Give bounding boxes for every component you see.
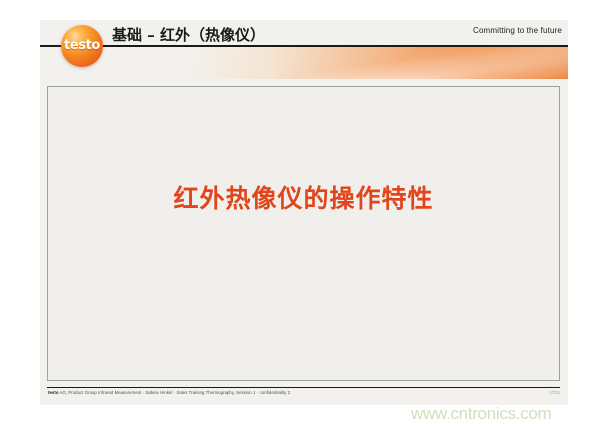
- brand-tagline: Committing to the future: [473, 26, 562, 35]
- slide-title: 基础 – 红外（热像仪）: [112, 24, 265, 45]
- footer-credit-line: testo AG, Product Group Infrared Measure…: [48, 390, 290, 395]
- slide-page-number: 17/21: [550, 390, 560, 395]
- footer-brand-name: testo: [48, 390, 59, 395]
- testo-logo-label: testo: [61, 38, 103, 53]
- site-watermark: www.cntronics.com: [411, 404, 551, 424]
- decorative-gradient-art: [188, 47, 568, 79]
- footer-divider-rule: [47, 387, 560, 388]
- slide-content-area: 红外热像仪的操作特性: [47, 86, 560, 381]
- slide-headline: 红外热像仪的操作特性: [48, 179, 559, 215]
- presentation-slide: Committing to the future testo 基础 – 红外（热…: [40, 20, 568, 405]
- testo-logo-icon: testo: [61, 25, 103, 67]
- title-band: [40, 47, 568, 79]
- footer-credit-text: AG, Product Group Infrared Measurement ·…: [59, 390, 291, 395]
